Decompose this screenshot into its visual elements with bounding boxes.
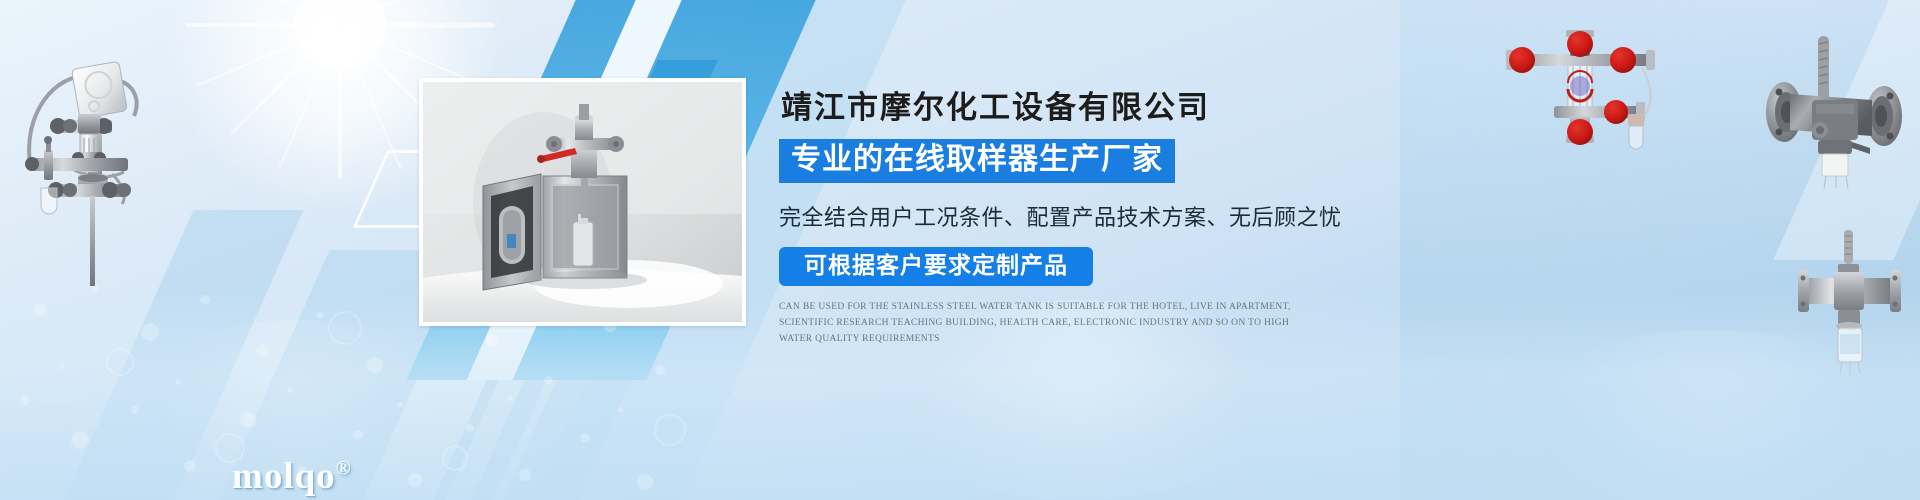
english-description: CAN BE USED FOR THE STAINLESS STEEL WATE… [779, 299, 1319, 347]
product-online-sampler-panel-assembly [8, 28, 188, 318]
product-flanged-lever-valve [1760, 30, 1910, 200]
tagline-primary-highlight: 专业的在线取样器生产厂家 [779, 139, 1175, 183]
banner-text-block: 靖江市摩尔化工设备有限公司 专业的在线取样器生产厂家 完全结合用户工况条件、配置… [779, 82, 1399, 347]
registered-trademark-icon: ® [336, 458, 352, 480]
tagline-custom-badge: 可根据客户要求定制产品 [779, 247, 1093, 286]
brand-logo-text: molqo [232, 456, 336, 497]
product-inline-sampling-valve [1790, 228, 1910, 388]
tagline-secondary: 完全结合用户工况条件、配置产品技术方案、无后顾之忧 [779, 200, 1399, 232]
brand-logo: molqo® [232, 455, 352, 498]
promotional-banner: 靖江市摩尔化工设备有限公司 专业的在线取样器生产厂家 完全结合用户工况条件、配置… [0, 0, 1920, 500]
product-cross-valve-sampler [1490, 28, 1670, 158]
cabinet-sampler-illustration [423, 82, 742, 322]
company-title: 靖江市摩尔化工设备有限公司 [781, 82, 1399, 127]
product-cabinet-sampler-photo [419, 78, 746, 326]
